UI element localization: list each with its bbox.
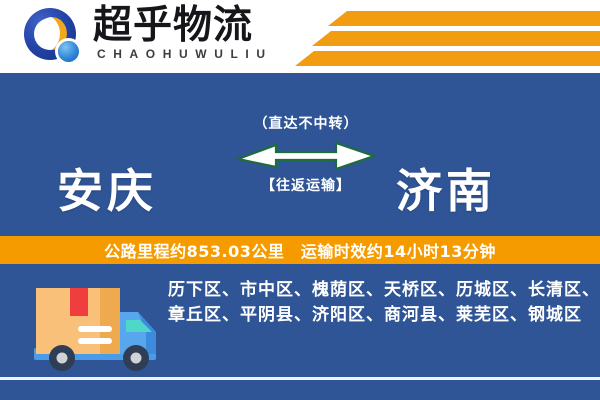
logo-accent-dot (58, 41, 79, 62)
logistics-route-poster: 超乎物流 CHAOHUWULIU 安庆 （直达不中转） 【往返运输】 济南 公路… (0, 0, 600, 400)
route-info-bar: 公路里程约853.03公里 运输时效约14小时13分钟 (0, 236, 600, 264)
coverage-band: 历下区、市中区、槐荫区、天桥区、历城区、长清区、 章丘区、平阴县、济阳区、商河县… (0, 264, 600, 400)
district-line-2: 章丘区、平阴县、济阳区、商河县、莱芜区、钢城区 (168, 303, 588, 328)
coverage-district-list: 历下区、市中区、槐荫区、天桥区、历城区、长清区、 章丘区、平阴县、济阳区、商河县… (168, 278, 588, 328)
origin-city: 安庆 (57, 166, 157, 216)
road-divider-line (0, 377, 600, 380)
stripe-3 (295, 51, 600, 66)
route-band: 安庆 （直达不中转） 【往返运输】 济南 (0, 73, 600, 236)
round-trip-note: 【往返运输】 (232, 177, 380, 195)
header-bar: 超乎物流 CHAOHUWULIU (0, 0, 600, 73)
stripe-2 (312, 31, 600, 46)
delivery-truck-icon (26, 276, 166, 376)
route-middle-group: （直达不中转） 【往返运输】 (232, 115, 380, 195)
brand-name-en: CHAOHUWULIU (97, 48, 273, 61)
direct-route-note: （直达不中转） (232, 115, 380, 133)
stripe-1 (328, 11, 600, 26)
brand-logo-icon (24, 8, 84, 66)
destination-city: 济南 (396, 166, 496, 216)
header-stripes-decoration (290, 0, 600, 73)
district-line-1: 历下区、市中区、槐荫区、天桥区、历城区、长清区、 (168, 278, 588, 303)
brand-name-cn: 超乎物流 (93, 6, 253, 46)
bidirectional-arrow-icon (236, 139, 376, 171)
distance-duration-text: 公路里程约853.03公里 运输时效约14小时13分钟 (104, 238, 496, 262)
